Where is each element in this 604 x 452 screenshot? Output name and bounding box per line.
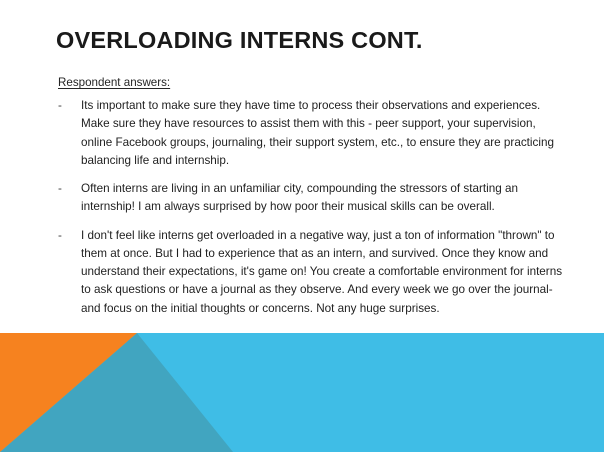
list-item-text: Its important to make sure they have tim… (81, 97, 568, 170)
bullet-dash-icon: - (58, 97, 62, 115)
list-item: - I don't feel like interns get overload… (56, 227, 568, 318)
list-item-text: Often interns are living in an unfamilia… (81, 180, 568, 217)
decorative-footer-band (0, 333, 604, 452)
decorative-shapes (0, 333, 604, 452)
list-item: - Its important to make sure they have t… (56, 97, 568, 170)
bullet-dash-icon: - (58, 227, 62, 245)
list-item: - Often interns are living in an unfamil… (56, 180, 568, 217)
bullet-dash-icon: - (58, 180, 62, 198)
page-title: OVERLOADING INTERNS CONT. (56, 28, 576, 54)
subheading-respondent-answers: Respondent answers: (58, 76, 170, 90)
slide-canvas: OVERLOADING INTERNS CONT. Respondent ans… (0, 0, 604, 452)
list-item-text: I don't feel like interns get overloaded… (81, 227, 568, 318)
bullet-list: - Its important to make sure they have t… (56, 97, 568, 318)
